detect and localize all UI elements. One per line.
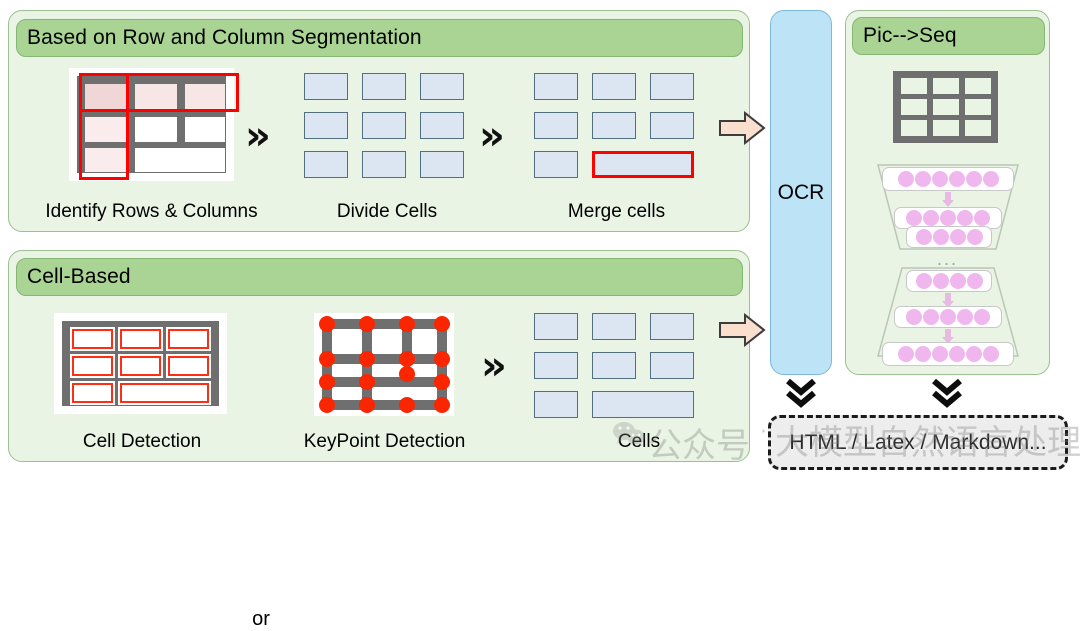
detected-cell-box: [72, 329, 113, 349]
node: [940, 309, 956, 325]
node: [915, 346, 931, 362]
diagram-canvas: Based on Row and Column Segmentation: [0, 0, 1080, 484]
table-cell: [965, 99, 991, 115]
keypoint-dot: [359, 397, 375, 413]
cell-box: [592, 313, 636, 340]
table-cell: [901, 120, 927, 136]
table-cell-merged: [135, 148, 225, 172]
cell-box: [534, 391, 578, 418]
cell-box: [534, 112, 578, 139]
block-arrow-right-icon: [718, 111, 766, 145]
node: [967, 229, 983, 245]
node: [950, 229, 966, 245]
table-grid-body: [62, 321, 219, 406]
detected-cell-box: [120, 356, 161, 376]
keypoint-dot: [359, 316, 375, 332]
panel-cell-based-title-text: Cell-Based: [27, 265, 131, 289]
cell-box: [362, 151, 406, 178]
caption-divide-cells: Divide Cells: [297, 201, 477, 223]
node: [966, 171, 982, 187]
grid-line-h: [322, 354, 447, 364]
node: [967, 273, 983, 289]
cell-box: [420, 112, 464, 139]
keypoint-dot: [319, 397, 335, 413]
cell-box: [650, 73, 694, 100]
keypoint-dot: [399, 351, 415, 367]
node: [923, 210, 939, 226]
node: [933, 273, 949, 289]
node: [906, 309, 922, 325]
detected-cell-box: [168, 356, 209, 376]
ocr-column: OCR: [770, 10, 832, 375]
detected-cell-box: [72, 383, 113, 403]
node: [906, 210, 922, 226]
node: [898, 346, 914, 362]
keypoint-dot: [319, 374, 335, 390]
cells-figure: [534, 313, 694, 418]
cell-detection-figure: [54, 313, 227, 414]
keypoint-dot: [359, 351, 375, 367]
decoder-layer-1: [894, 306, 1002, 328]
cell-box: [420, 73, 464, 100]
decoder-trapezoid: [868, 266, 1028, 358]
column-highlight-box: [79, 73, 129, 180]
encoder-layer-0: [882, 167, 1014, 191]
cell-box: [592, 112, 636, 139]
keypoint-dot: [399, 316, 415, 332]
keypoint-dot: [359, 374, 375, 390]
detected-cell-box: [168, 329, 209, 349]
decoder-layer-0: [906, 270, 992, 292]
output-format-label: HTML / Latex / Markdown...: [789, 431, 1046, 455]
cell-box: [592, 73, 636, 100]
caption-merge-cells: Merge cells: [534, 201, 699, 223]
caption-identify-rows-columns: Identify Rows & Columns: [19, 201, 284, 223]
node: [974, 309, 990, 325]
cell-box: [534, 313, 578, 340]
table-cell: [185, 117, 225, 142]
encoder-trapezoid: [868, 163, 1028, 251]
node: [940, 210, 956, 226]
double-chevron-right-icon: »: [481, 346, 507, 386]
keypoint-dot: [434, 351, 450, 367]
keypoint-detection-figure: [314, 313, 454, 416]
decoder-layer-2: [882, 342, 1014, 366]
table-cell: [965, 120, 991, 136]
caption-cell-detection: Cell Detection: [52, 431, 232, 453]
keypoint-dot: [319, 351, 335, 367]
node: [915, 171, 931, 187]
keypoint-dot: [434, 316, 450, 332]
panel-pic-to-seq-title-text: Pic-->Seq: [863, 24, 957, 48]
pic-to-seq-table-image: [893, 71, 998, 143]
cell-box: [362, 73, 406, 100]
table-cell: [901, 99, 927, 115]
cell-box: [304, 73, 348, 100]
identify-rows-columns-figure: [69, 68, 234, 181]
panel-row-column-title-text: Based on Row and Column Segmentation: [27, 26, 422, 50]
node: [932, 171, 948, 187]
cell-box: [534, 73, 578, 100]
cell-box: [304, 112, 348, 139]
merge-cells-figure: [534, 73, 694, 178]
table-cell: [901, 78, 927, 94]
divide-cells-figure: [304, 73, 464, 178]
node: [898, 171, 914, 187]
node: [932, 346, 948, 362]
panel-row-column-segmentation: Based on Row and Column Segmentation: [8, 10, 750, 232]
panel-cell-based-title: Cell-Based: [16, 258, 743, 296]
panel-pic-to-seq-title: Pic-->Seq: [852, 17, 1045, 55]
merged-cell-box: [592, 151, 694, 178]
node: [923, 309, 939, 325]
cell-box: [592, 352, 636, 379]
panel-pic-to-seq: Pic-->Seq: [845, 10, 1050, 375]
table-cell: [965, 78, 991, 94]
keypoint-dot: [434, 374, 450, 390]
table-cell: [933, 99, 959, 115]
cell-box: [534, 352, 578, 379]
cell-box: [650, 313, 694, 340]
node: [933, 229, 949, 245]
keypoint-dot: [434, 397, 450, 413]
detected-cell-box-merged: [120, 383, 209, 403]
keypoint-dot: [399, 366, 415, 382]
double-chevron-right-icon: »: [479, 116, 505, 156]
or-label: or: [241, 608, 281, 631]
node: [957, 210, 973, 226]
grid-line-h: [322, 377, 447, 387]
keypoint-dot: [319, 316, 335, 332]
node: [966, 346, 982, 362]
double-chevron-down-icon: [784, 378, 818, 408]
cell-box: [650, 352, 694, 379]
cell-box: [534, 151, 578, 178]
detected-cell-box: [72, 356, 113, 376]
cell-box: [420, 151, 464, 178]
watermark-separator: ·: [760, 420, 767, 445]
detected-cell-box: [120, 329, 161, 349]
node: [950, 273, 966, 289]
panel-row-column-title: Based on Row and Column Segmentation: [16, 19, 743, 57]
keypoint-dot: [399, 397, 415, 413]
node: [983, 171, 999, 187]
node: [916, 229, 932, 245]
caption-keypoint-detection: KeyPoint Detection: [287, 431, 482, 453]
ocr-label: OCR: [778, 181, 825, 205]
grid-line-h: [322, 400, 447, 410]
node: [916, 273, 932, 289]
table-cell: [135, 117, 177, 142]
double-chevron-down-icon: [930, 378, 964, 408]
node: [974, 210, 990, 226]
double-chevron-right-icon: »: [245, 116, 271, 156]
node: [957, 309, 973, 325]
table-cell: [933, 78, 959, 94]
output-format-box: HTML / Latex / Markdown...: [768, 415, 1068, 470]
encoder-layer-2: [906, 226, 992, 248]
table-cell: [933, 120, 959, 136]
node: [949, 346, 965, 362]
cell-box: [304, 151, 348, 178]
merged-cell-box: [592, 391, 694, 418]
wechat-logo-icon: [612, 420, 646, 446]
cell-box: [650, 112, 694, 139]
node: [949, 171, 965, 187]
block-arrow-right-icon: [718, 313, 766, 347]
down-arrow-icon: [941, 192, 955, 208]
cell-box: [362, 112, 406, 139]
node: [983, 346, 999, 362]
grid-line-h: [322, 319, 447, 329]
